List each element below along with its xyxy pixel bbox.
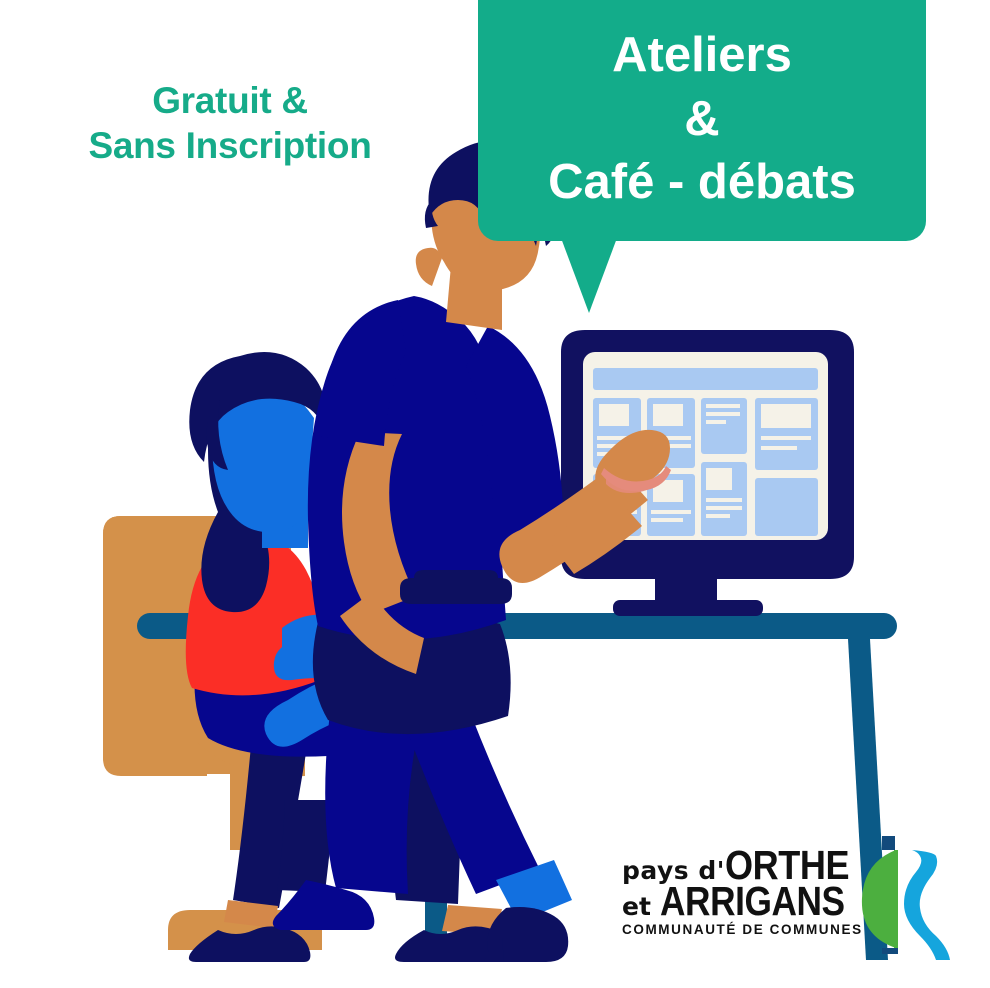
bubble-line-1: Ateliers — [612, 24, 792, 88]
speech-bubble-tail — [561, 238, 617, 313]
logo-river-icon — [904, 850, 950, 960]
logo-line-2: et ARRIGANS — [622, 878, 862, 925]
headline-line-2: Sans Inscription — [55, 123, 405, 168]
pays-dorthe-et-arrigans-logo[interactable]: pays d'ORTHE et ARRIGANS COMMUNAUTÉ DE C… — [622, 838, 962, 963]
bubble-line-3: Café - débats — [548, 151, 856, 215]
poster-canvas: Gratuit & Sans Inscription Ateliers & Ca… — [0, 0, 990, 988]
logo-leaf-river-mark — [860, 836, 965, 961]
headline-line-1: Gratuit & — [55, 78, 405, 123]
logo-mark-top-tick — [882, 836, 895, 850]
bubble-line-2: & — [684, 88, 719, 152]
free-no-registration-headline: Gratuit & Sans Inscription — [55, 78, 405, 168]
logo-et-text: et — [622, 892, 660, 921]
workshops-speech-bubble: Ateliers & Café - débats — [478, 0, 926, 241]
logo-leaf-icon — [862, 850, 896, 948]
logo-arrigans-text: ARRIGANS — [660, 878, 845, 925]
logo-tagline: COMMUNAUTÉ DE COMMUNES — [622, 922, 862, 937]
